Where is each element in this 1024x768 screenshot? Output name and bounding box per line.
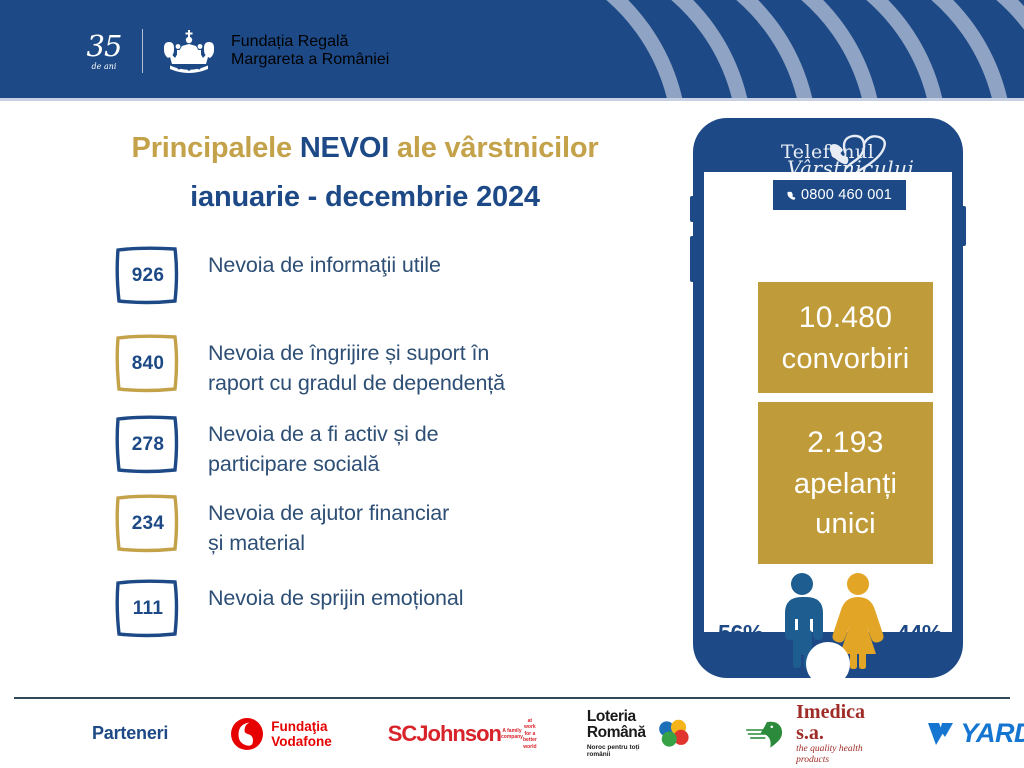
org-name-line2: Margareta a României [231,51,389,69]
yardi-chevron-icon [927,721,955,747]
org-name-line1: Fundația Regală [231,33,389,51]
needs-list: 926 Nevoia de informaţii utile 840 Nevoi… [112,243,687,660]
list-item: 840 Nevoia de îngrijire și suport în rap… [112,331,687,398]
anniversary-number: 35 [78,31,130,61]
partners-label: Parteneri [92,723,168,744]
title-highlight: NEVOI [300,132,389,164]
phone-power-button [962,206,966,246]
need-description: Nevoia de informaţii utile [208,243,441,280]
vodafone-wordmark: Fundaţia Vodafone [271,719,332,749]
title-line-2: ianuarie - decembrie 2024 [60,177,670,217]
need-count-box: 234 [112,491,184,557]
list-item: 234 Nevoia de ajutor financiar și materi… [112,491,687,558]
phone-mockup: Telefonul Vârstnicului 10.480 convorbiri… [693,118,963,678]
need-count-value: 111 [133,598,164,620]
phone-volume-down-button [690,236,694,282]
need-count-value: 926 [132,265,165,287]
vodafone-line1: Fundaţia [271,719,332,734]
phone-volume-up-button [690,196,694,222]
header-underline [0,98,1024,101]
vodafone-speechmark-icon [230,717,264,751]
stat-callers-number: 2.193 [807,422,884,464]
partner-logo-yardi: YARDI [927,718,1024,749]
need-text-line1: Nevoia de informaţii utile [208,253,441,277]
partner-logo-scjohnson: SCJohnson A family company at work for a… [388,717,537,751]
page-title: Principalele NEVOI ale vârstnicilor ianu… [60,128,670,217]
title-part-1: Principalele [132,132,300,164]
need-text-line2: și material [208,528,449,558]
need-text-line2: raport cu gradul de dependență [208,368,505,398]
title-part-2: ale vârstnicilor [389,132,598,164]
need-count-box: 926 [112,243,184,309]
list-item: 278 Nevoia de a fi activ și de participa… [112,412,687,479]
partner-logo-loteria-romana: Loteria Română Noroc pentru toți românii [587,709,691,758]
stat-calls-label: convorbiri [782,339,910,379]
brand-divider [142,29,143,73]
stat-calls-number: 10.480 [799,297,893,339]
partners-footer: Parteneri Fundaţia Vodafone SCJohnson A … [0,699,1024,768]
anniversary-mark: 35 de ani [78,31,130,71]
male-percentage: 56% [718,620,763,647]
anniversary-sublabel: de ani [78,62,130,71]
phone-screen: 10.480 convorbiri 2.193 apelanți unici 5… [704,172,952,632]
phone-handset-icon [787,190,797,201]
vodafone-line2: Vodafone [271,734,332,749]
need-description: Nevoia de sprijin emoțional [208,576,463,613]
scjohnson-tagline-line1: A family company [501,728,523,741]
scjohnson-tagline-line2: at work for a better world [523,718,537,751]
loteria-line2: Română [587,725,653,741]
crown-icon [159,28,219,74]
female-percentage: 44% [897,620,942,647]
loteria-tagline: Noroc pentru toți românii [587,744,653,758]
partner-logo-vodafone: Fundaţia Vodafone [230,717,332,751]
need-count-box: 278 [112,412,184,478]
need-text-line2: participare socială [208,449,438,479]
loteria-wordmark: Loteria Română Noroc pentru toți românii [587,709,653,758]
phone-number-value: 0800 460 001 [801,187,892,203]
stat-callers-label-line1: apelanți [794,464,897,504]
need-count-box: 111 [112,576,184,642]
home-button[interactable] [806,642,850,686]
partner-logo-imedica: Imedica s.a. the quality health products [743,702,878,766]
loteria-line1: Loteria [587,709,653,725]
need-text-line1: Nevoia de a fi activ și de [208,422,438,446]
title-line-1: Principalele NEVOI ale vârstnicilor [60,128,670,168]
need-count-value: 840 [132,353,165,375]
stat-card-calls: 10.480 convorbiri [758,282,933,393]
stat-callers-label-line2: unici [815,504,876,544]
need-description: Nevoia de îngrijire și suport în raport … [208,331,505,398]
imedica-wordmark: Imedica s.a. the quality health products [796,702,877,766]
scjohnson-wordmark: SCJohnson [388,723,501,745]
need-text-line1: Nevoia de îngrijire și suport în [208,341,489,365]
list-item: 111 Nevoia de sprijin emoțional [112,576,687,642]
imedica-leaf-icon [743,715,793,753]
yardi-wordmark: YARDI [960,718,1024,749]
need-description: Nevoia de ajutor financiar și material [208,491,449,558]
infographic-page: 35 de ani [0,0,1024,768]
need-description: Nevoia de a fi activ și de participare s… [208,412,438,479]
need-count-box: 840 [112,331,184,397]
need-count-value: 234 [132,513,165,535]
loteria-balls-icon [655,717,690,751]
list-item: 926 Nevoia de informaţii utile [112,243,687,309]
imedica-tagline: the quality health products [796,744,877,766]
need-text-line1: Nevoia de ajutor financiar [208,501,449,525]
brand-lockup: 35 de ani [78,26,389,76]
organization-name: Fundația Regală Margareta a României [231,33,389,69]
stat-card-unique-callers: 2.193 apelanți unici [758,402,933,564]
header-banner: 35 de ani [0,0,1024,98]
phone-number-badge: 0800 460 001 [773,180,906,210]
imedica-name: Imedica s.a. [796,702,877,744]
need-count-value: 278 [132,434,165,456]
need-text-line1: Nevoia de sprijin emoțional [208,586,463,610]
